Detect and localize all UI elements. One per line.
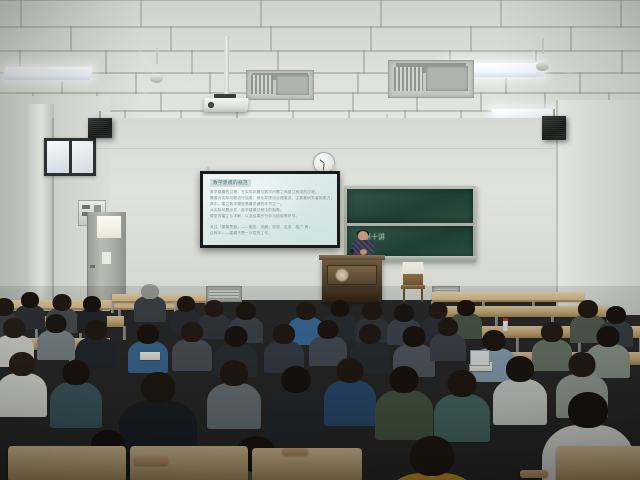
student-head [597, 326, 620, 347]
desk-leg [516, 337, 519, 352]
upper-window [44, 138, 96, 176]
student-head [141, 284, 159, 299]
wall-speaker-left [88, 118, 112, 138]
student-f-blue2 [324, 358, 376, 429]
student-torso [375, 390, 433, 440]
seatback-1[interactable] [8, 446, 126, 480]
desk-leg [123, 326, 126, 340]
student-head [236, 302, 256, 320]
slide-text-line: 过程中——建模不是一次性的工作。 [210, 231, 272, 236]
lecture-hall-photo: 第十讲 数学建模的规范 数学建模的过程：在实际问题与数学问题之间建立桥梁的过程，… [0, 0, 640, 480]
student-head [137, 324, 159, 344]
student-head [438, 318, 458, 336]
left-pillar [28, 104, 54, 302]
student-head [3, 318, 25, 338]
student-head [429, 302, 448, 319]
university-crest-icon [335, 268, 349, 282]
student-head [46, 314, 67, 333]
student-head [85, 320, 107, 340]
student-torso [172, 339, 212, 371]
student-head [541, 322, 563, 342]
student-f-dark [267, 366, 325, 443]
seatback-4[interactable] [556, 446, 640, 480]
student-head [506, 356, 534, 382]
right-wall [556, 100, 640, 315]
armrest-1[interactable] [134, 456, 168, 465]
student-head [83, 296, 101, 312]
student-head [53, 294, 72, 311]
slide-text-line: 数学建模的过程：在实际问题与数学问题之间建立桥梁的过程， [210, 190, 319, 195]
water-bottle [503, 318, 508, 331]
student-fg-yellow [380, 436, 484, 480]
student-torso [267, 390, 325, 440]
student-head [141, 372, 175, 403]
slide-text-line: 其中，建立数学模型是最关键的环节之一。 [210, 202, 284, 207]
student-head [359, 324, 381, 344]
side-door[interactable] [87, 212, 126, 304]
student-head [63, 360, 90, 385]
tablet-screen[interactable] [470, 350, 490, 366]
student-torso [324, 380, 376, 426]
student-f-white2 [493, 356, 547, 428]
student-f-teal2 [434, 370, 490, 445]
student-torso [430, 333, 466, 361]
desk-leg [111, 302, 114, 313]
slide-text-line: 需要对实际问题进行抽象、简化并提出合理假设，主要靠研究者的能力； [210, 196, 334, 201]
wall-trim-line [54, 148, 556, 149]
student-head [483, 330, 506, 351]
lectern[interactable] [322, 258, 382, 302]
student-head [337, 358, 364, 383]
slide-title: 数学建模的规范 [210, 179, 251, 187]
student-torso [207, 383, 261, 429]
student-f-gray [207, 360, 261, 432]
student-torso [50, 382, 102, 428]
slide-text-line: 模型的建立与求解，以及结果的分析与检验等环节。 [210, 214, 299, 219]
armrest-2[interactable] [282, 448, 308, 455]
projection-screen: 数学建模的规范 数学建模的过程：在实际问题与数学问题之间建立桥梁的过程，需要对实… [200, 171, 340, 248]
student-f-white [0, 352, 47, 420]
student-blue-m [128, 324, 168, 376]
slide-text-line: 从实际问题出发，数学建模过程中的抽象； [210, 208, 284, 213]
student-head [410, 436, 454, 476]
slide-text-line: 关注「建模思路」——假设、求解、检验、应用、推广 等； [210, 225, 312, 230]
notebook-left [140, 352, 160, 360]
student-f-teal [50, 360, 102, 431]
student-head [457, 300, 475, 316]
student-head [177, 296, 195, 312]
student-gray-hair [134, 284, 166, 325]
student-head [318, 320, 339, 339]
student-head [390, 366, 419, 393]
student-head [296, 302, 316, 320]
student-head [568, 392, 608, 428]
student-head [225, 326, 248, 347]
student-head [606, 306, 626, 324]
student-head [9, 352, 35, 376]
student-m-c1 [172, 322, 212, 374]
armrest-3[interactable] [520, 470, 548, 478]
student-head [569, 352, 596, 377]
blackboard-panel-upper [347, 189, 473, 223]
wooden-chair[interactable] [400, 262, 426, 302]
student-head [205, 300, 224, 317]
student-head [403, 326, 426, 347]
student-head [578, 300, 598, 318]
student-torso [493, 379, 547, 425]
student-torso [0, 373, 47, 417]
student-head [181, 322, 203, 342]
student-head [21, 292, 39, 308]
microphone-icon [350, 249, 354, 253]
student-head [220, 360, 248, 386]
student-head [331, 300, 350, 317]
student-head [273, 324, 295, 344]
student-torso [434, 394, 490, 442]
student-m-r2 [430, 318, 466, 364]
projection-screen-surface: 数学建模的规范 数学建模的过程：在实际问题与数学问题之间建立桥梁的过程，需要对实… [203, 174, 337, 245]
student-torso [134, 296, 166, 322]
student-head [282, 366, 311, 393]
student-head [448, 370, 477, 397]
student-head [362, 302, 382, 320]
student-head [394, 304, 414, 322]
wall-speaker-right [542, 116, 566, 140]
student-f-green [375, 366, 433, 443]
